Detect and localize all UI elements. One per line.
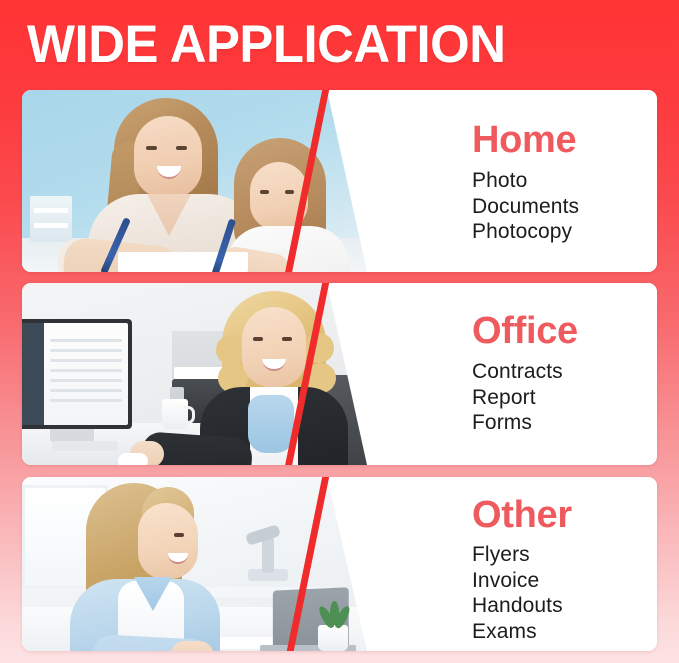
card-inner: Home Photo Documents Photocopy bbox=[22, 90, 657, 272]
mother-eye-left bbox=[146, 146, 157, 150]
list-item: Forms bbox=[472, 410, 563, 436]
list-item: Invoice bbox=[472, 568, 563, 594]
application-card-home: Home Photo Documents Photocopy bbox=[22, 90, 657, 272]
woman-face bbox=[138, 503, 198, 579]
mother-eye-right bbox=[176, 146, 187, 150]
list-item: Handouts bbox=[472, 593, 563, 619]
businesswoman-at-computer-photo bbox=[22, 283, 372, 465]
monitor-text-line bbox=[50, 349, 122, 352]
woman-face bbox=[242, 307, 306, 387]
card-item-list: Photo Documents Photocopy bbox=[472, 168, 579, 245]
text-panel: Home Photo Documents Photocopy bbox=[402, 90, 657, 272]
list-item: Photocopy bbox=[472, 219, 579, 245]
card-inner: Office Contracts Report Forms bbox=[22, 283, 657, 465]
application-card-office: Office Contracts Report Forms bbox=[22, 283, 657, 465]
card-item-list: Flyers Invoice Handouts Exams bbox=[472, 542, 563, 644]
bookshelf bbox=[30, 196, 72, 242]
wide-application-poster: WIDE APPLICATION bbox=[0, 0, 679, 663]
woman-with-laptop-in-lab-photo bbox=[22, 477, 372, 651]
list-item: Documents bbox=[472, 194, 579, 220]
woman-hair-curl bbox=[304, 333, 334, 363]
woman-eye bbox=[174, 533, 184, 537]
coffee-mug bbox=[162, 399, 188, 429]
plant-pot bbox=[318, 625, 348, 651]
mother-and-daughter-writing-photo bbox=[22, 90, 372, 272]
page-title: WIDE APPLICATION bbox=[27, 16, 603, 74]
monitor-text-line bbox=[50, 339, 122, 342]
list-item: Contracts bbox=[472, 359, 563, 385]
woman-eye-right bbox=[282, 337, 292, 341]
girl-eye-left bbox=[260, 190, 269, 194]
monitor-text-line bbox=[50, 389, 122, 392]
monitor-text-line bbox=[50, 359, 122, 362]
text-panel: Other Flyers Invoice Handouts Exams bbox=[402, 477, 657, 651]
list-item: Report bbox=[472, 385, 563, 411]
notebook-paper bbox=[118, 252, 248, 272]
computer-mouse bbox=[118, 453, 148, 465]
keyboard bbox=[52, 441, 118, 451]
monitor-sidebar bbox=[22, 323, 44, 425]
card-heading: Home bbox=[472, 120, 576, 160]
monitor-text-line bbox=[50, 379, 122, 382]
mother-face bbox=[134, 116, 202, 198]
microscope-arm bbox=[262, 537, 274, 573]
list-item: Photo bbox=[472, 168, 579, 194]
monitor-text-line bbox=[50, 399, 122, 402]
photo-scene bbox=[22, 283, 372, 465]
photo-scene bbox=[22, 90, 372, 272]
woman-neck-bow bbox=[248, 395, 294, 453]
text-panel: Office Contracts Report Forms bbox=[402, 283, 657, 465]
monitor-text-line bbox=[50, 369, 122, 372]
girl-face bbox=[250, 162, 308, 230]
list-item: Exams bbox=[472, 619, 563, 645]
application-card-other: Other Flyers Invoice Handouts Exams bbox=[22, 477, 657, 651]
photo-scene bbox=[22, 477, 372, 651]
card-inner: Other Flyers Invoice Handouts Exams bbox=[22, 477, 657, 651]
card-heading: Office bbox=[472, 311, 578, 351]
girl-eye-right bbox=[285, 190, 294, 194]
list-item: Flyers bbox=[472, 542, 563, 568]
card-heading: Other bbox=[472, 495, 572, 535]
card-item-list: Contracts Report Forms bbox=[472, 359, 563, 436]
woman-eye-left bbox=[253, 337, 263, 341]
monitor-screen bbox=[22, 323, 128, 425]
monitor bbox=[22, 319, 132, 429]
